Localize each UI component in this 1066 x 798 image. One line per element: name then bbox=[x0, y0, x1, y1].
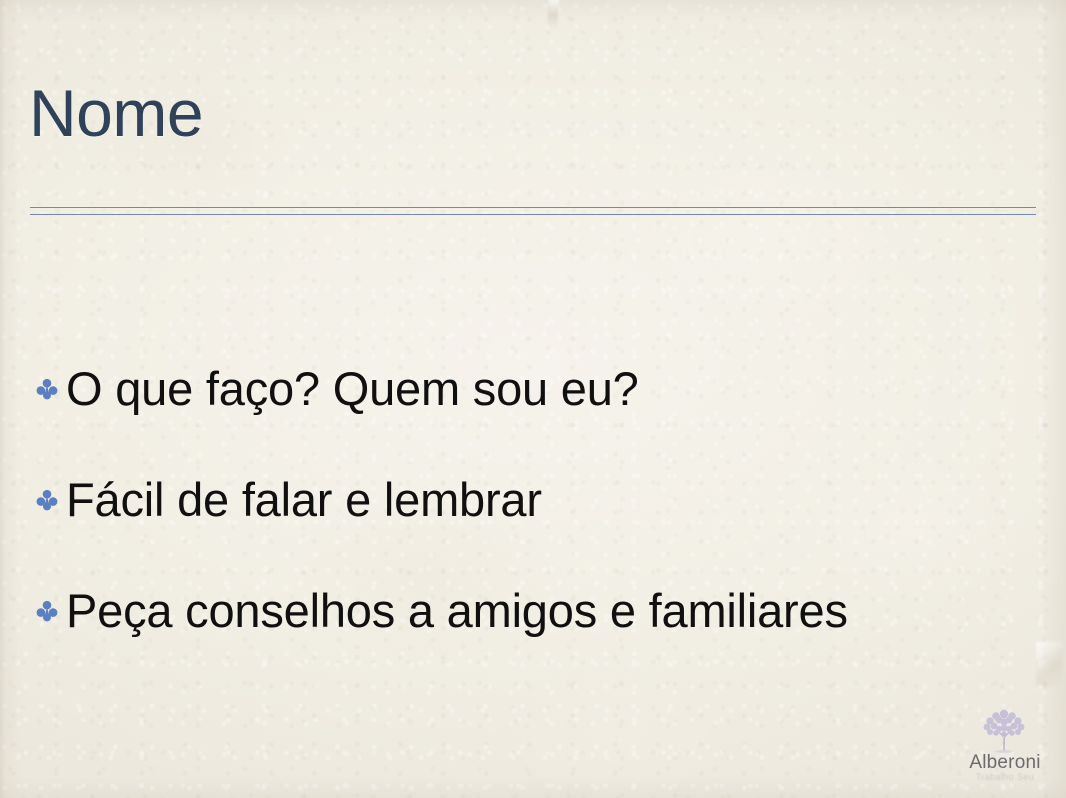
list-item: Peça conselhos a amigos e familiares bbox=[34, 583, 848, 639]
clover-bullet-icon bbox=[34, 361, 60, 417]
divider-rule-top bbox=[30, 207, 1036, 208]
list-item-label: Fácil de falar e lembrar bbox=[66, 472, 542, 528]
brand-logo: Alberoni Trabalho Seu bbox=[957, 702, 1053, 786]
logo-wordmark: Alberoni bbox=[957, 752, 1053, 774]
logo-tagline: Trabalho Seu bbox=[957, 772, 1053, 782]
presentation-slide: Nome O que f bbox=[0, 0, 1066, 798]
clover-bullet-icon bbox=[34, 583, 60, 639]
list-item: Fácil de falar e lembrar bbox=[34, 472, 542, 528]
slide-content: Nome O que f bbox=[0, 0, 1066, 798]
page-title: Nome bbox=[29, 80, 203, 146]
clover-bullet-icon bbox=[34, 472, 60, 528]
divider-rule-bottom bbox=[30, 214, 1036, 215]
list-item-label: Peça conselhos a amigos e familiares bbox=[66, 583, 848, 639]
title-divider bbox=[30, 207, 1036, 215]
list-item-label: O que faço? Quem sou eu? bbox=[66, 361, 639, 417]
list-item: O que faço? Quem sou eu? bbox=[34, 361, 639, 417]
